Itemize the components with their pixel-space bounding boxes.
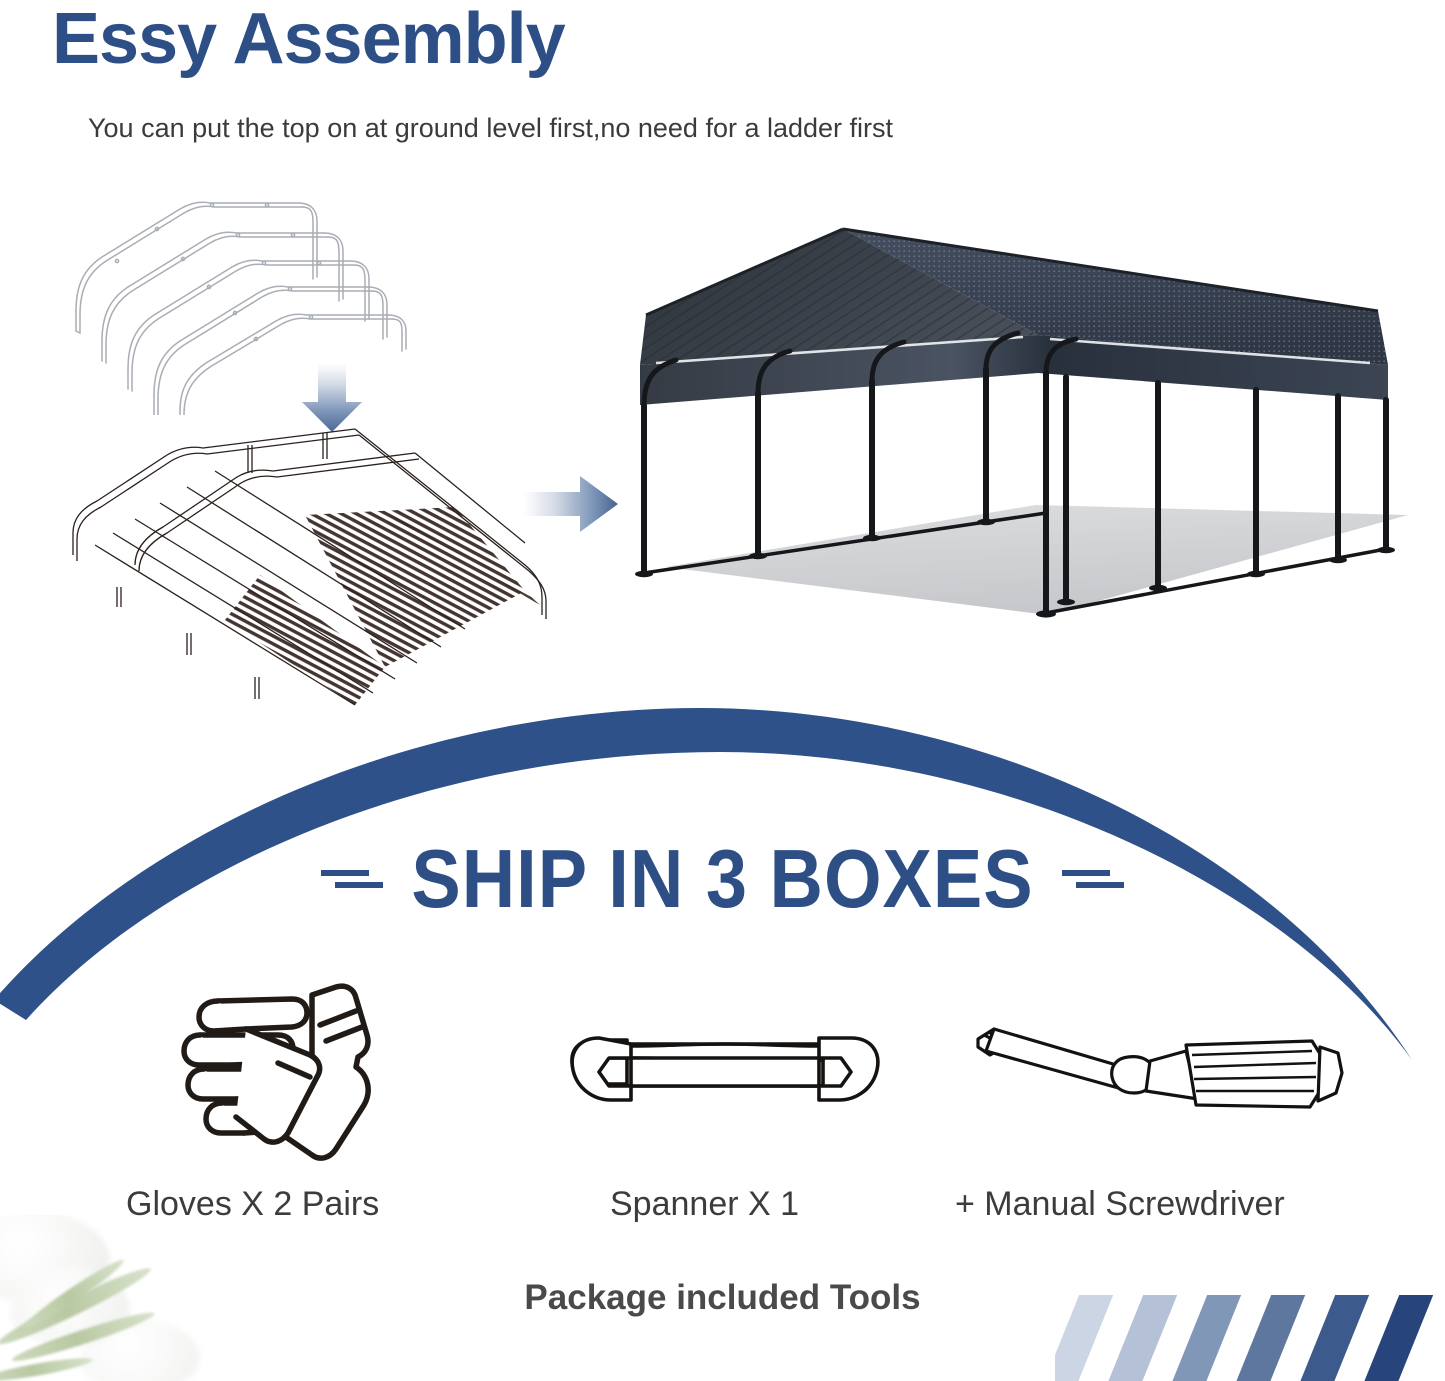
- stripe-2: [1103, 1295, 1181, 1381]
- stripe-3: [1167, 1295, 1245, 1381]
- screwdriver-icon: [960, 995, 1350, 1135]
- stripe-4: [1231, 1295, 1309, 1381]
- white-tulip-photo-corner: [0, 1215, 290, 1381]
- stripe-1: [1055, 1295, 1117, 1381]
- tools-icon-row: [0, 965, 1445, 1175]
- dash-decoration-left: [321, 864, 385, 894]
- infographic-page: Essy Assembly You can put the top on at …: [0, 0, 1445, 1381]
- ship-banner-row: SHIP IN 3 BOXES: [0, 836, 1445, 921]
- gloves-icon: [160, 965, 410, 1165]
- assembled-carport-render: [618, 215, 1408, 635]
- stripe-5: [1295, 1295, 1373, 1381]
- ship-banner-title: SHIP IN 3 BOXES: [411, 831, 1033, 926]
- diagonal-stripe-decoration: [1055, 1295, 1445, 1381]
- roof-truss-arches-wireframe: [62, 165, 482, 415]
- assembled-roof-frame-with-panels: [55, 415, 575, 715]
- stripe-6: [1359, 1295, 1437, 1381]
- wrench-icon: [565, 1010, 885, 1135]
- page-title: Essy Assembly: [52, 2, 565, 78]
- tool-label-spanner: Spanner X 1: [610, 1185, 799, 1224]
- arrow-right-icon: [522, 472, 622, 536]
- tool-label-screwdriver: + Manual Screwdriver: [955, 1185, 1285, 1224]
- dash-decoration-right: [1060, 864, 1124, 894]
- page-subtitle: You can put the top on at ground level f…: [88, 113, 893, 144]
